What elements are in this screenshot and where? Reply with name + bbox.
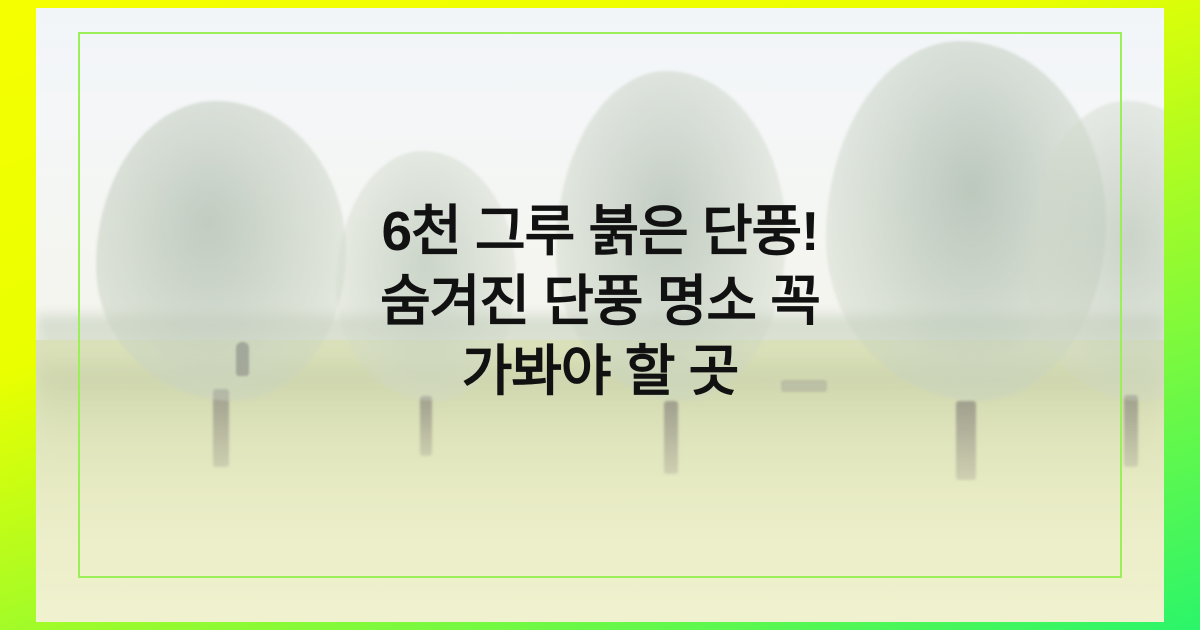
title-line-3: 가봐야 할 곳: [120, 336, 1080, 406]
banner-canvas: 6천 그루 붉은 단풍! 숨겨진 단풍 명소 꼭 가봐야 할 곳: [0, 0, 1200, 630]
title-block: 6천 그루 붉은 단풍! 숨겨진 단풍 명소 꼭 가봐야 할 곳: [0, 196, 1200, 406]
title-line-2: 숨겨진 단풍 명소 꼭: [120, 266, 1080, 336]
title-line-1: 6천 그루 붉은 단풍!: [120, 196, 1080, 266]
